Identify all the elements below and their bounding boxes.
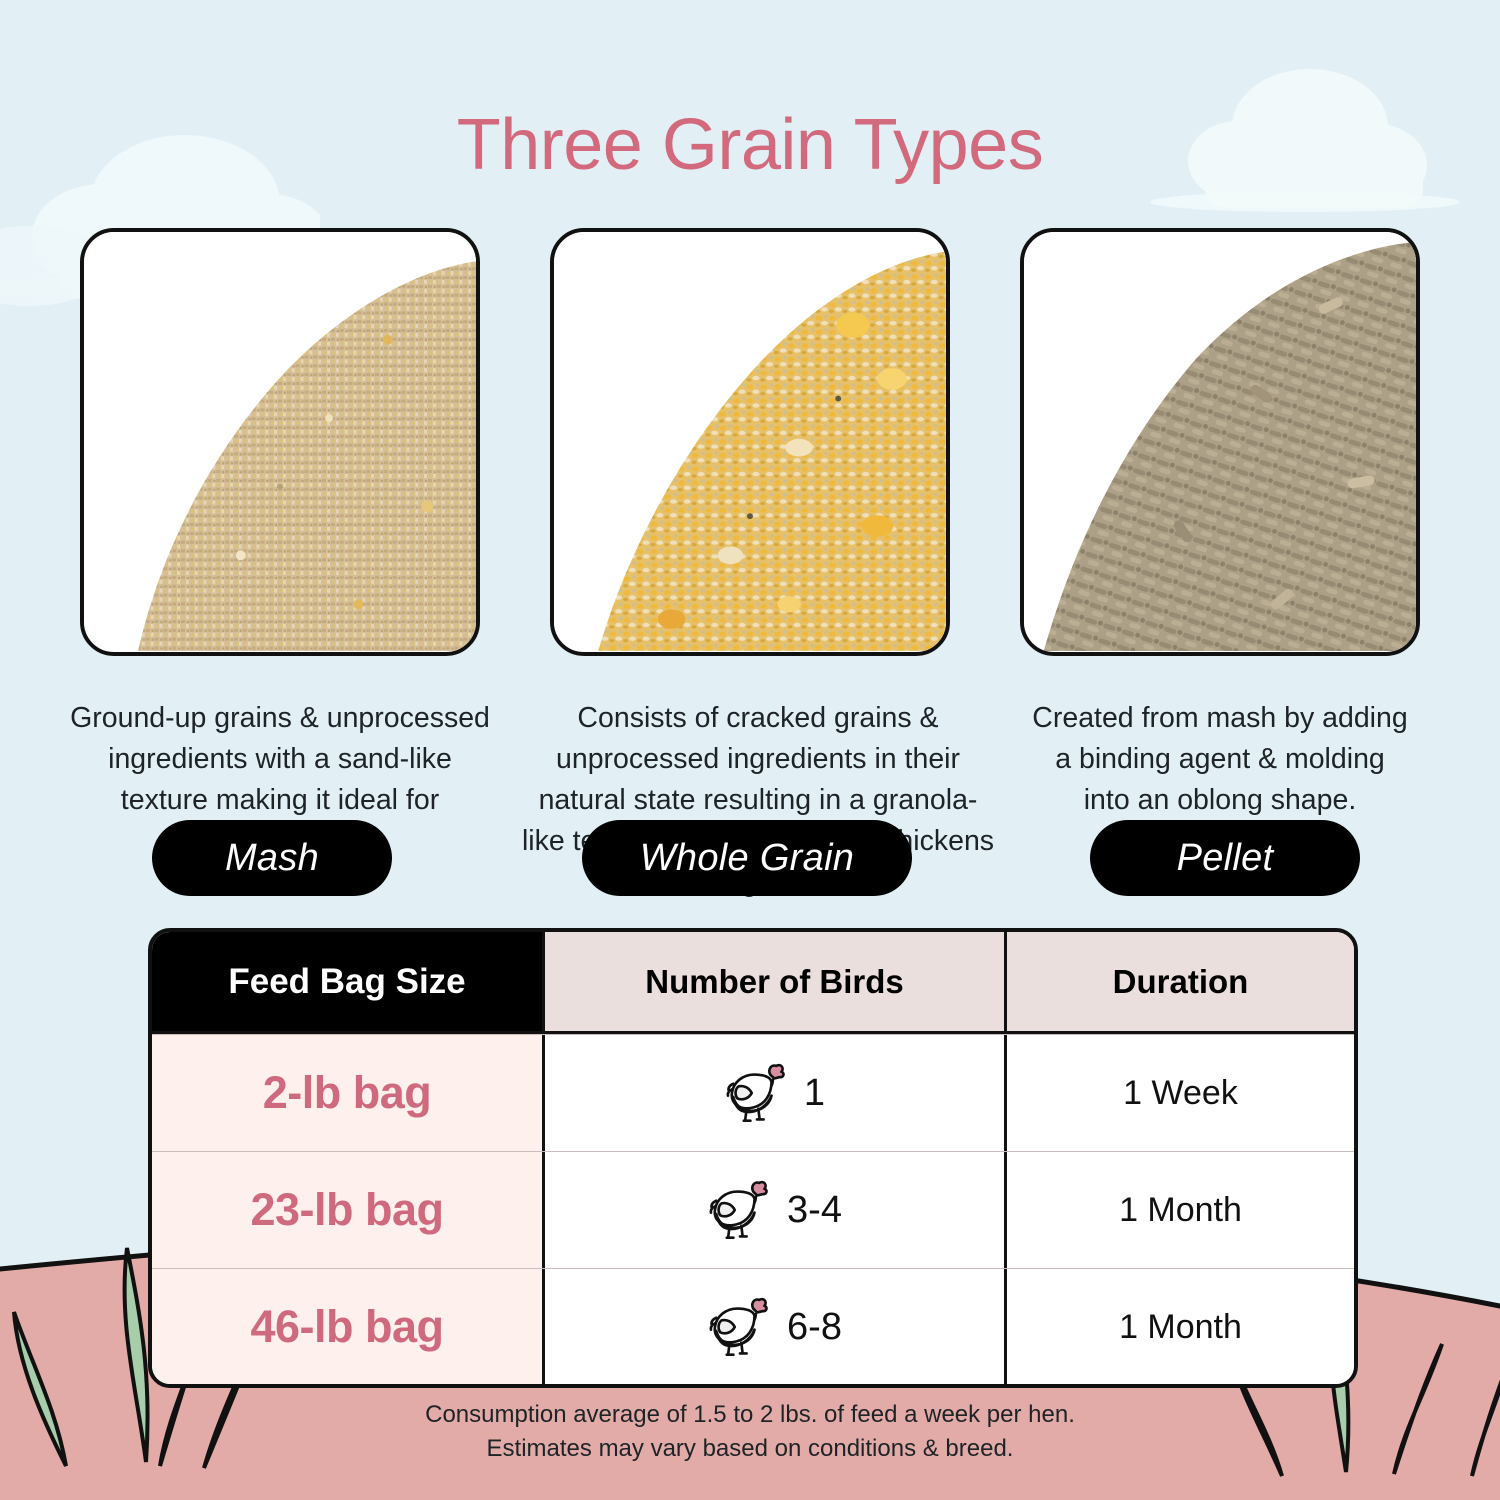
feed-bag-table: Feed Bag Size Number of Birds Duration 2… bbox=[148, 928, 1358, 1388]
table-header-row: Feed Bag Size Number of Birds Duration bbox=[152, 932, 1354, 1034]
table-row: 23-lb bag bbox=[152, 1151, 1354, 1268]
table-header-number-of-birds: Number of Birds bbox=[542, 932, 1004, 1031]
cell-bag-size: 23-lb bag bbox=[152, 1152, 542, 1268]
whole-grain-feed-photo bbox=[554, 232, 946, 651]
grain-card-pellet bbox=[1020, 228, 1420, 656]
description-pellet: Created from mash by adding a binding ag… bbox=[1030, 698, 1410, 821]
cell-duration: 1 Week bbox=[1004, 1035, 1354, 1151]
chicken-icon bbox=[707, 1177, 773, 1243]
cell-duration: 1 Month bbox=[1004, 1269, 1354, 1385]
bird-count: 3-4 bbox=[787, 1189, 842, 1232]
table-row: 2-lb bag bbox=[152, 1034, 1354, 1151]
card-label-pellet: Pellet bbox=[1090, 820, 1360, 896]
table-header-duration: Duration bbox=[1004, 932, 1354, 1031]
footnote-line-2: Estimates may vary based on conditions &… bbox=[0, 1432, 1500, 1466]
grain-card-mash bbox=[80, 228, 480, 656]
infographic-canvas: Three Grain Types bbox=[0, 0, 1500, 1500]
cell-number-of-birds: 3-4 bbox=[542, 1152, 1004, 1268]
bird-count: 1 bbox=[804, 1072, 825, 1115]
grain-card-whole-grain bbox=[550, 228, 950, 656]
card-label-mash: Mash bbox=[152, 820, 392, 896]
table-header-feed-bag-size: Feed Bag Size bbox=[152, 932, 542, 1031]
pellet-feed-photo bbox=[1024, 232, 1416, 651]
cell-bag-size: 2-lb bag bbox=[152, 1035, 542, 1151]
cell-bag-size: 46-lb bag bbox=[152, 1269, 542, 1385]
footnote-line-1: Consumption average of 1.5 to 2 lbs. of … bbox=[0, 1398, 1500, 1432]
cell-duration: 1 Month bbox=[1004, 1152, 1354, 1268]
bird-count: 6-8 bbox=[787, 1306, 842, 1349]
card-label-whole-grain: Whole Grain bbox=[582, 820, 912, 896]
cell-number-of-birds: 1 bbox=[542, 1035, 1004, 1151]
mash-feed-photo bbox=[84, 232, 476, 651]
grain-type-cards: Mash Whole Grain Pellet bbox=[0, 228, 1500, 658]
chicken-icon bbox=[724, 1060, 790, 1126]
table-row: 46-lb bag bbox=[152, 1268, 1354, 1385]
chicken-icon bbox=[707, 1294, 773, 1360]
cell-number-of-birds: 6-8 bbox=[542, 1269, 1004, 1385]
page-title: Three Grain Types bbox=[0, 104, 1500, 186]
footnote: Consumption average of 1.5 to 2 lbs. of … bbox=[0, 1398, 1500, 1466]
